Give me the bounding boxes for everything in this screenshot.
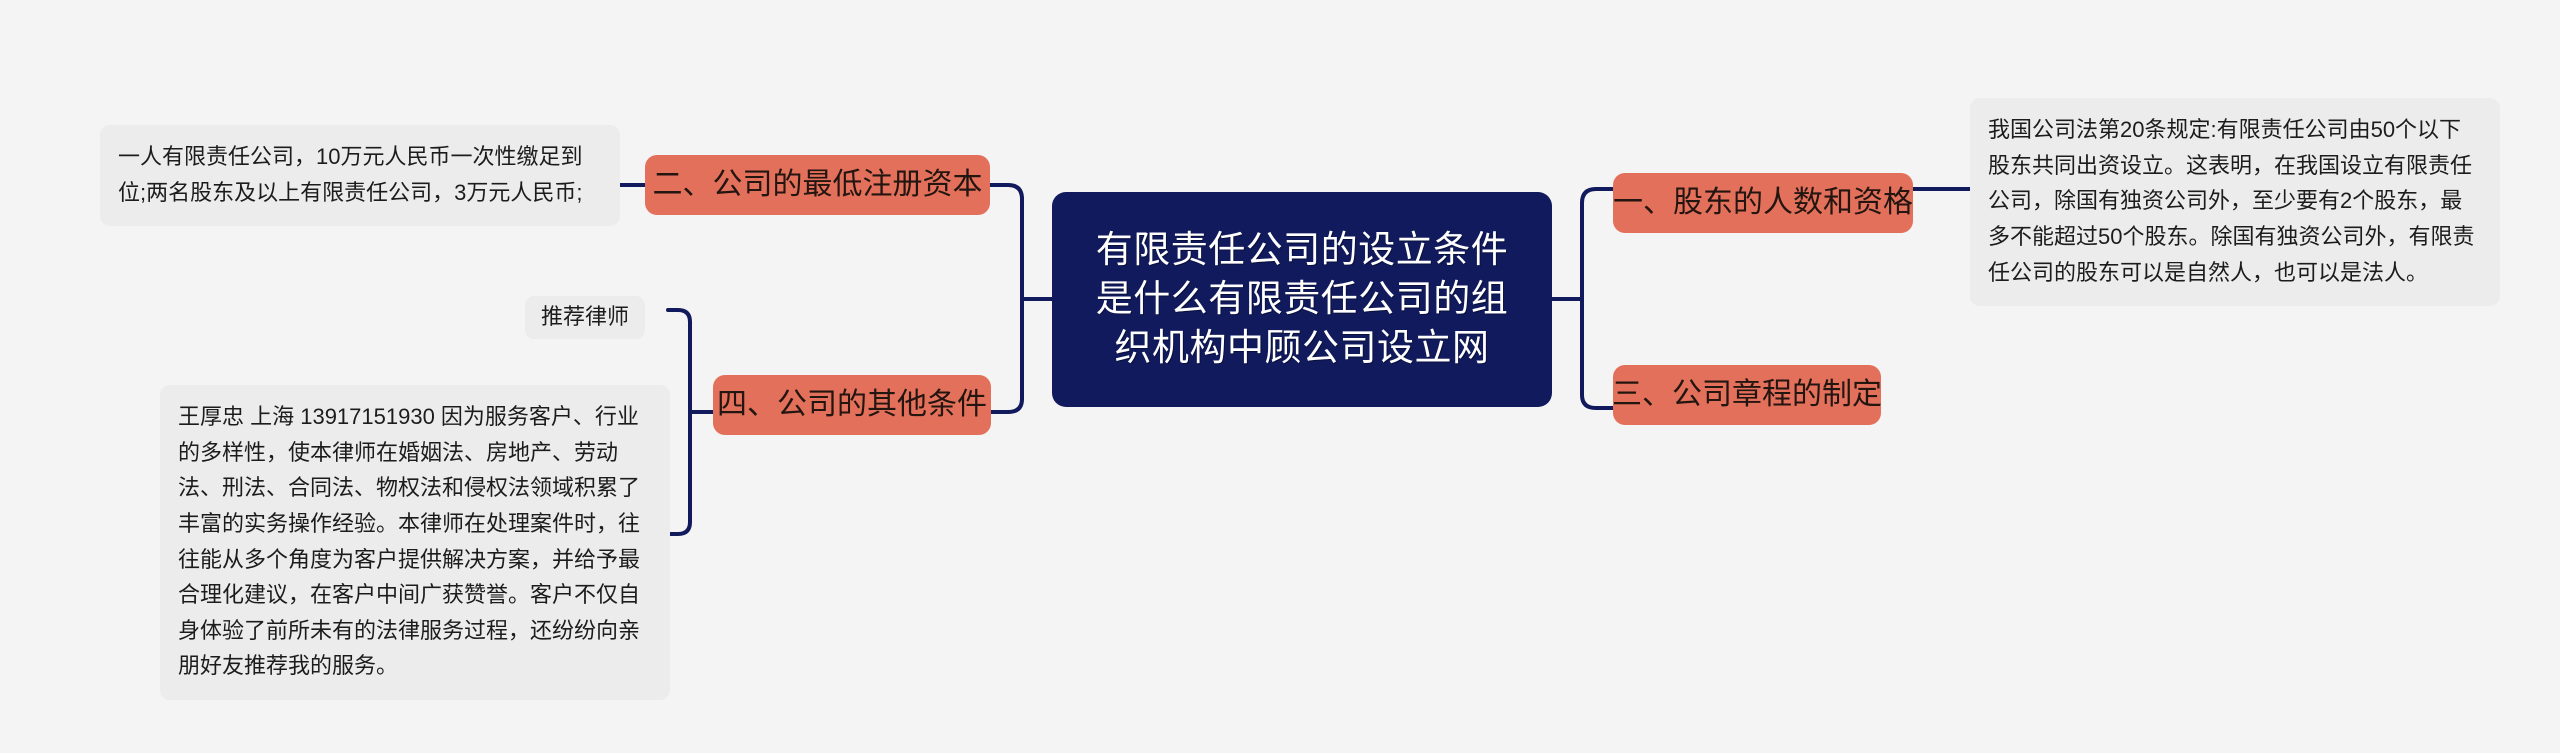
branch-node-label: 二、公司的最低注册资本 [653,167,983,203]
edge-to-branch-3 [1582,395,1613,408]
leaf-note-text: 王厚忠 上海 13917151930 因为服务客户、行业的多样性，使本律师在婚姻… [178,399,652,684]
edge-to-label-recommend [668,310,690,322]
label-recommend-lawyer-text: 推荐律师 [541,304,629,329]
branch-node-minimum-registered-capital[interactable]: 二、公司的最低注册资本 [645,155,990,215]
branch-node-other-conditions[interactable]: 四、公司的其他条件 [713,375,991,435]
branch-node-label: 一、股东的人数和资格 [1613,185,1913,221]
root-node-topic[interactable]: 有限责任公司的设立条件是什么有限责任公司的组织机构中顾公司设立网 [1052,192,1552,407]
branch-node-label: 三、公司章程的制定 [1612,377,1882,413]
edge-to-leaf-lawyer [670,522,690,534]
branch-node-shareholder-count-and-qualification[interactable]: 一、股东的人数和资格 [1613,173,1913,233]
edge-to-branch-1 [1582,189,1613,203]
leaf-note-minimum-capital: 一人有限责任公司，10万元人民币一次性缴足到位;两名股东及以上有限责任公司，3万… [100,125,620,226]
leaf-note-shareholder-rules: 我国公司法第20条规定:有限责任公司由50个以下股东共同出资设立。这表明，在我国… [1970,98,2500,306]
leaf-note-text: 一人有限责任公司，10万元人民币一次性缴足到位;两名股东及以上有限责任公司，3万… [118,139,602,210]
root-node-label: 有限责任公司的设立条件是什么有限责任公司的组织机构中顾公司设立网 [1078,226,1526,372]
leaf-note-text: 我国公司法第20条规定:有限责任公司由50个以下股东共同出资设立。这表明，在我国… [1988,112,2482,290]
mindmap-canvas: 一人有限责任公司，10万元人民币一次性缴足到位;两名股东及以上有限责任公司，3万… [0,0,2560,753]
edge-to-branch-4 [991,399,1022,412]
leaf-note-lawyer-profile: 王厚忠 上海 13917151930 因为服务客户、行业的多样性，使本律师在婚姻… [160,385,670,700]
branch-node-articles-of-association[interactable]: 三、公司章程的制定 [1613,365,1881,425]
label-recommend-lawyer: 推荐律师 [525,296,645,339]
edge-to-branch-2 [990,185,1022,199]
branch-node-label: 四、公司的其他条件 [717,387,987,423]
